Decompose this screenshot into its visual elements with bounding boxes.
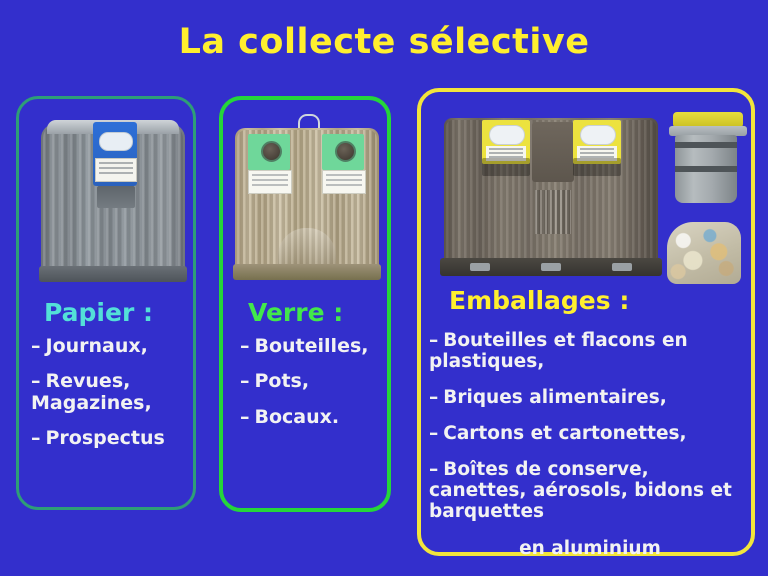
- paper-collection-container-image: [37, 114, 189, 286]
- bullet-dash: –: [31, 335, 41, 357]
- list-item: –Bouteilles et flacons en plastiques,: [429, 330, 751, 372]
- bin-band: [675, 166, 737, 172]
- bin-band: [675, 142, 737, 148]
- container-foot: [541, 263, 561, 271]
- glass-slot-opening: [335, 141, 356, 162]
- bullet-dash: –: [31, 427, 41, 449]
- packaging-slot-opening: [489, 125, 525, 145]
- list-item: –Bouteilles,: [240, 336, 395, 357]
- list-item-label: Boîtes de conserve, canettes, aérosols, …: [429, 459, 732, 522]
- list-item: –Revues, Magazines,: [31, 371, 195, 414]
- container-chute: [97, 186, 135, 208]
- list-item-label: Bouteilles,: [255, 335, 369, 357]
- container-label-right: [322, 170, 366, 194]
- heading-emballages: Emballages :: [449, 286, 629, 315]
- list-item-label: Bouteilles et flacons en plastiques,: [429, 330, 688, 372]
- bag-body: [667, 222, 741, 284]
- bullet-dash: –: [429, 387, 438, 408]
- packaging-slot-opening: [580, 125, 616, 145]
- container-chute-right: [573, 158, 621, 176]
- list-item: –Cartons et cartonettes,: [429, 423, 751, 444]
- list-item-label: Prospectus: [46, 427, 165, 449]
- container-base: [39, 266, 187, 282]
- bullet-dash: –: [31, 370, 41, 392]
- list-item-label: Briques alimentaires,: [443, 387, 667, 408]
- container-foot: [470, 263, 490, 271]
- list-item: –Journaux,: [31, 336, 195, 357]
- bullet-dash: –: [240, 370, 250, 392]
- list-item-label: Bocaux.: [255, 406, 340, 428]
- list-verre: –Bouteilles, –Pots, –Bocaux.: [240, 336, 395, 428]
- list-emballages: –Bouteilles et flacons en plastiques, –B…: [429, 330, 751, 574]
- glass-slot-panel-green-right: [322, 134, 364, 170]
- container-base: [233, 264, 381, 280]
- list-item-label: en aluminium: [519, 538, 661, 559]
- glass-collection-container-image: [232, 112, 382, 286]
- glass-slot-panel-green-left: [248, 134, 290, 170]
- paper-slot-opening: [99, 132, 133, 151]
- container-label: [95, 158, 137, 182]
- recycling-bag-image: [667, 222, 741, 286]
- list-item: en aluminium: [429, 538, 751, 559]
- list-papier: –Journaux, –Revues, Magazines, –Prospect…: [31, 336, 195, 449]
- glass-slot-opening: [261, 141, 282, 162]
- list-item-label: Cartons et cartonettes,: [443, 423, 686, 444]
- heading-verre: Verre :: [248, 298, 343, 327]
- container-center-panel: [532, 122, 574, 182]
- packaging-collection-container-image: [440, 110, 662, 282]
- slide: La collecte sélective Papier : –Journaux…: [0, 0, 768, 576]
- list-item: –Bocaux.: [240, 407, 395, 428]
- container-label-left: [248, 170, 292, 194]
- container-chute-left: [482, 158, 530, 176]
- bullet-dash: –: [429, 459, 438, 480]
- list-item-label: Journaux,: [46, 335, 148, 357]
- bullet-dash: –: [240, 406, 250, 428]
- bullet-dash: –: [429, 423, 438, 444]
- list-item-label: Pots,: [255, 370, 310, 392]
- list-item: –Boîtes de conserve, canettes, aérosols,…: [429, 459, 751, 522]
- list-item: –Briques alimentaires,: [429, 387, 751, 408]
- list-item: –Pots,: [240, 371, 395, 392]
- list-item: –Prospectus: [31, 428, 195, 449]
- heading-papier: Papier :: [44, 298, 153, 327]
- list-item-label: Revues, Magazines,: [31, 370, 152, 413]
- container-fins: [535, 190, 571, 234]
- page-title: La collecte sélective: [0, 22, 768, 62]
- bullet-dash: –: [429, 330, 438, 351]
- wheelie-bin-image: [667, 112, 749, 208]
- bullet-dash: –: [240, 335, 250, 357]
- container-foot: [612, 263, 632, 271]
